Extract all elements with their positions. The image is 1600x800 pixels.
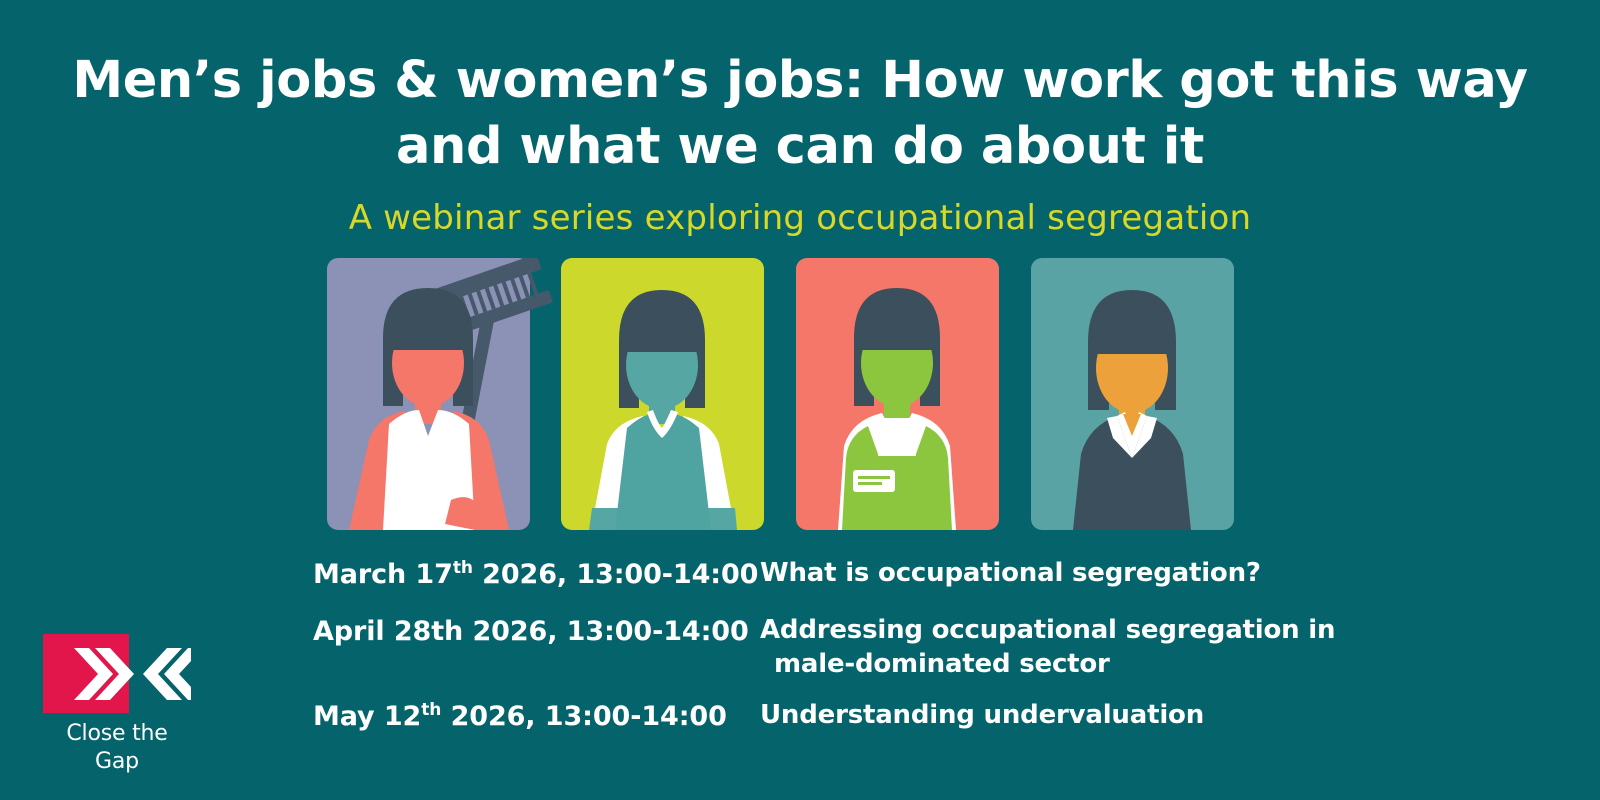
schedule-date: May 12th 2026, 13:00-14:00 (313, 698, 760, 736)
schedule-date-prefix: May 12 (313, 701, 421, 732)
schedule-row: March 17th 2026, 13:00-14:00 What is occ… (313, 556, 1553, 594)
name-badge (853, 470, 895, 492)
schedule-date: April 28th 2026, 13:00-14:00 (313, 613, 760, 651)
right-cuff (706, 508, 737, 530)
schedule-date-ordinal: th (421, 700, 441, 720)
page-title-line-1: Men’s jobs & women’s jobs: How work got … (60, 48, 1540, 114)
logo-chevrons (43, 634, 191, 714)
schedule-description-line-1: Understanding undervaluation (760, 700, 1204, 730)
schedule-description-line-1: Addressing occupational segregation in (760, 615, 1335, 645)
logo-text: Close the Gap (43, 720, 191, 776)
illustration-card-strip (327, 258, 1234, 530)
schedule-date-rest: 2026, 13:00-14:00 (473, 559, 759, 590)
schedule-date-ordinal: th (453, 558, 473, 578)
close-the-gap-logo[interactable]: Close the Gap (43, 634, 191, 754)
illustration-card-care-worker (561, 258, 764, 530)
schedule-description: Understanding undervaluation (760, 698, 1553, 732)
schedule-description: What is occupational segregation? (760, 556, 1553, 590)
illustration-card-retail-worker (796, 258, 999, 530)
schedule-date-rest: 2026, 13:00-14:00 (463, 616, 749, 647)
webinar-poster: Men’s jobs & women’s jobs: How work got … (0, 0, 1600, 800)
schedule-row: May 12th 2026, 13:00-14:00 Understanding… (313, 698, 1553, 736)
schedule-description-line-1: What is occupational segregation? (760, 558, 1261, 588)
schedule-date: March 17th 2026, 13:00-14:00 (313, 556, 760, 594)
schedule-row: April 28th 2026, 13:00-14:00 Addressing … (313, 613, 1553, 681)
page-title-line-2: and what we can do about it (60, 114, 1540, 180)
page-title: Men’s jobs & women’s jobs: How work got … (0, 48, 1600, 180)
schedule-date-prefix: April 28th (313, 616, 463, 647)
schedule-description: Addressing occupational segregation in m… (760, 613, 1553, 681)
illustration-card-professional (1031, 258, 1234, 530)
schedule-description-line-2: male-dominated sector (760, 647, 1553, 681)
page-subtitle: A webinar series exploring occupational … (0, 196, 1600, 240)
logo-mark (43, 634, 191, 714)
illustration-card-cleaner (327, 258, 530, 530)
schedule-date-rest: 2026, 13:00-14:00 (441, 701, 727, 732)
schedule-date-prefix: March 17 (313, 559, 453, 590)
apron-bib (878, 418, 916, 456)
